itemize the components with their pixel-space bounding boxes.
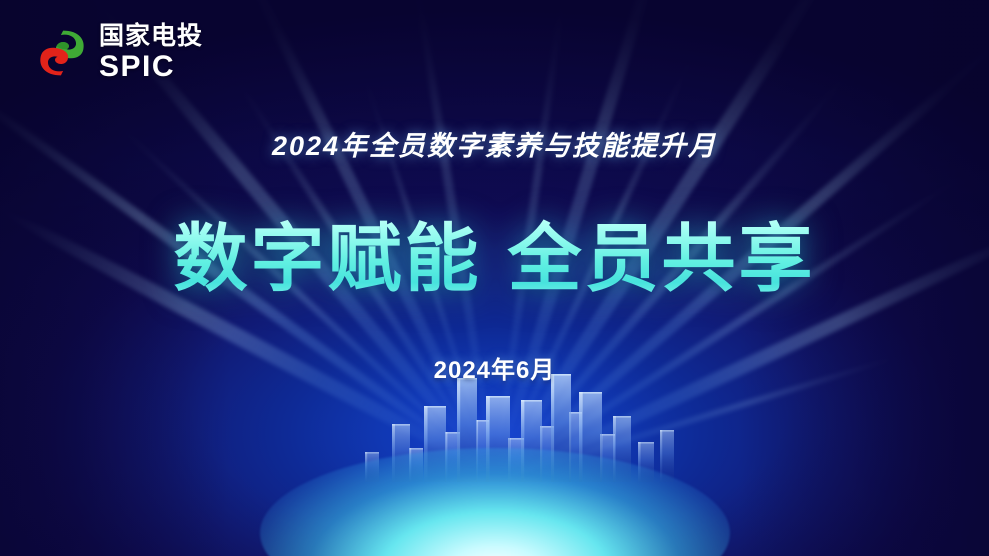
poster-canvas: 国家电投 SPIC 2024年全员数字素养与技能提升月 数字赋能全员共享 202…: [0, 0, 989, 556]
poster-date: 2024年6月: [0, 350, 989, 385]
poster-headline: 数字赋能全员共享: [0, 199, 989, 306]
brand-name-en: SPIC: [99, 52, 203, 82]
brand-name-cn: 国家电投: [99, 24, 203, 49]
brand-wordmark: 国家电投 SPIC: [99, 24, 203, 82]
poster-subtitle: 2024年全员数字素养与技能提升月: [0, 124, 989, 163]
headline-part-2: 全员共享: [508, 217, 816, 300]
spic-swirl-logo-icon: [34, 25, 90, 81]
headline-part-1: 数字赋能: [174, 217, 482, 300]
brand-logo: 国家电投 SPIC: [34, 24, 203, 82]
